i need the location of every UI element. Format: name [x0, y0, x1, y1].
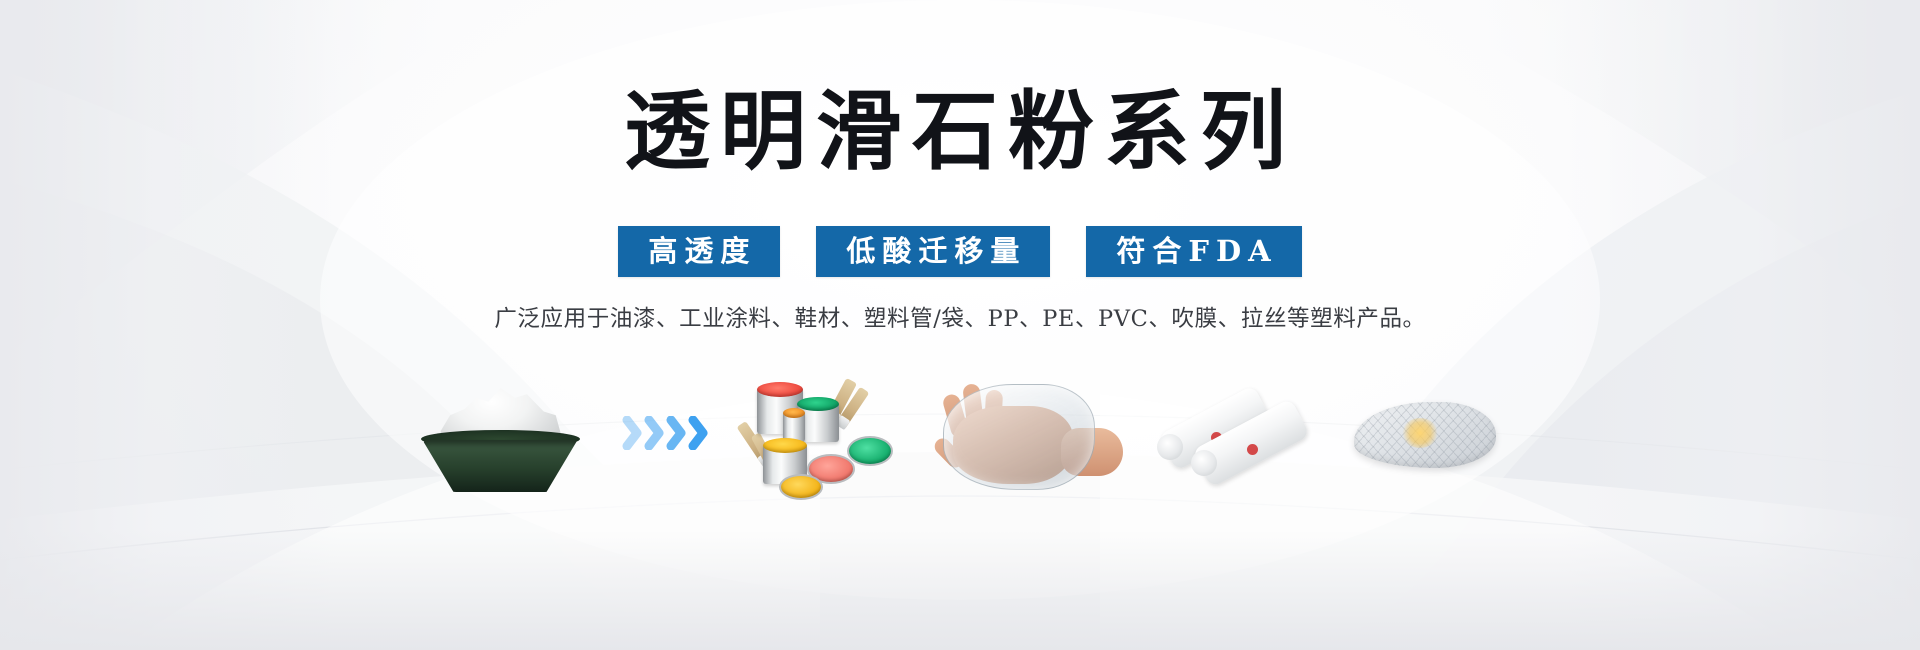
film-roll-front-end — [1191, 450, 1217, 476]
talc-powder-bowl-image — [400, 362, 600, 492]
chevron-right-icon-4 — [688, 416, 708, 450]
paint-can-orange-surface — [783, 408, 805, 418]
process-arrows — [600, 362, 730, 492]
sole-highlight — [1402, 418, 1438, 448]
paint-lid-yellow — [779, 474, 823, 500]
bowl-body — [423, 440, 578, 492]
page-title: 透明滑石粉系列 — [0, 82, 1920, 182]
paint-can-yellow-surface — [763, 438, 807, 453]
paint-can-green-surface — [797, 397, 839, 411]
feature-badge-transparency[interactable]: 高透度 — [618, 226, 780, 277]
paint-cans-image — [730, 362, 920, 492]
chevron-right-icon-3 — [666, 416, 686, 450]
plastic-glove — [943, 384, 1095, 490]
product-banner: 透明滑石粉系列 高透度 低酸迁移量 符合FDA 广泛应用于油漆、工业涂料、鞋材、… — [0, 0, 1920, 650]
feature-badge-list: 高透度 低酸迁移量 符合FDA — [0, 226, 1920, 277]
feature-badge-low-acid-migration[interactable]: 低酸迁移量 — [816, 226, 1050, 277]
chevron-right-icon-1 — [622, 416, 642, 450]
paint-lid-green — [847, 436, 893, 466]
application-description: 广泛应用于油漆、工业涂料、鞋材、塑料管/袋、PP、PE、PVC、吹膜、拉丝等塑料… — [0, 302, 1920, 336]
plastic-film-rolls-image — [1140, 362, 1330, 492]
film-roll-back-end — [1157, 434, 1183, 460]
paint-can-red-surface — [757, 382, 803, 397]
chevron-right-icon-2 — [644, 416, 664, 450]
shoe-sole-image — [1330, 362, 1520, 492]
product-image-strip — [0, 352, 1920, 492]
gloved-hand-image — [920, 362, 1140, 492]
feature-badge-fda[interactable]: 符合FDA — [1086, 226, 1301, 277]
film-roll-front-mark — [1247, 444, 1258, 455]
